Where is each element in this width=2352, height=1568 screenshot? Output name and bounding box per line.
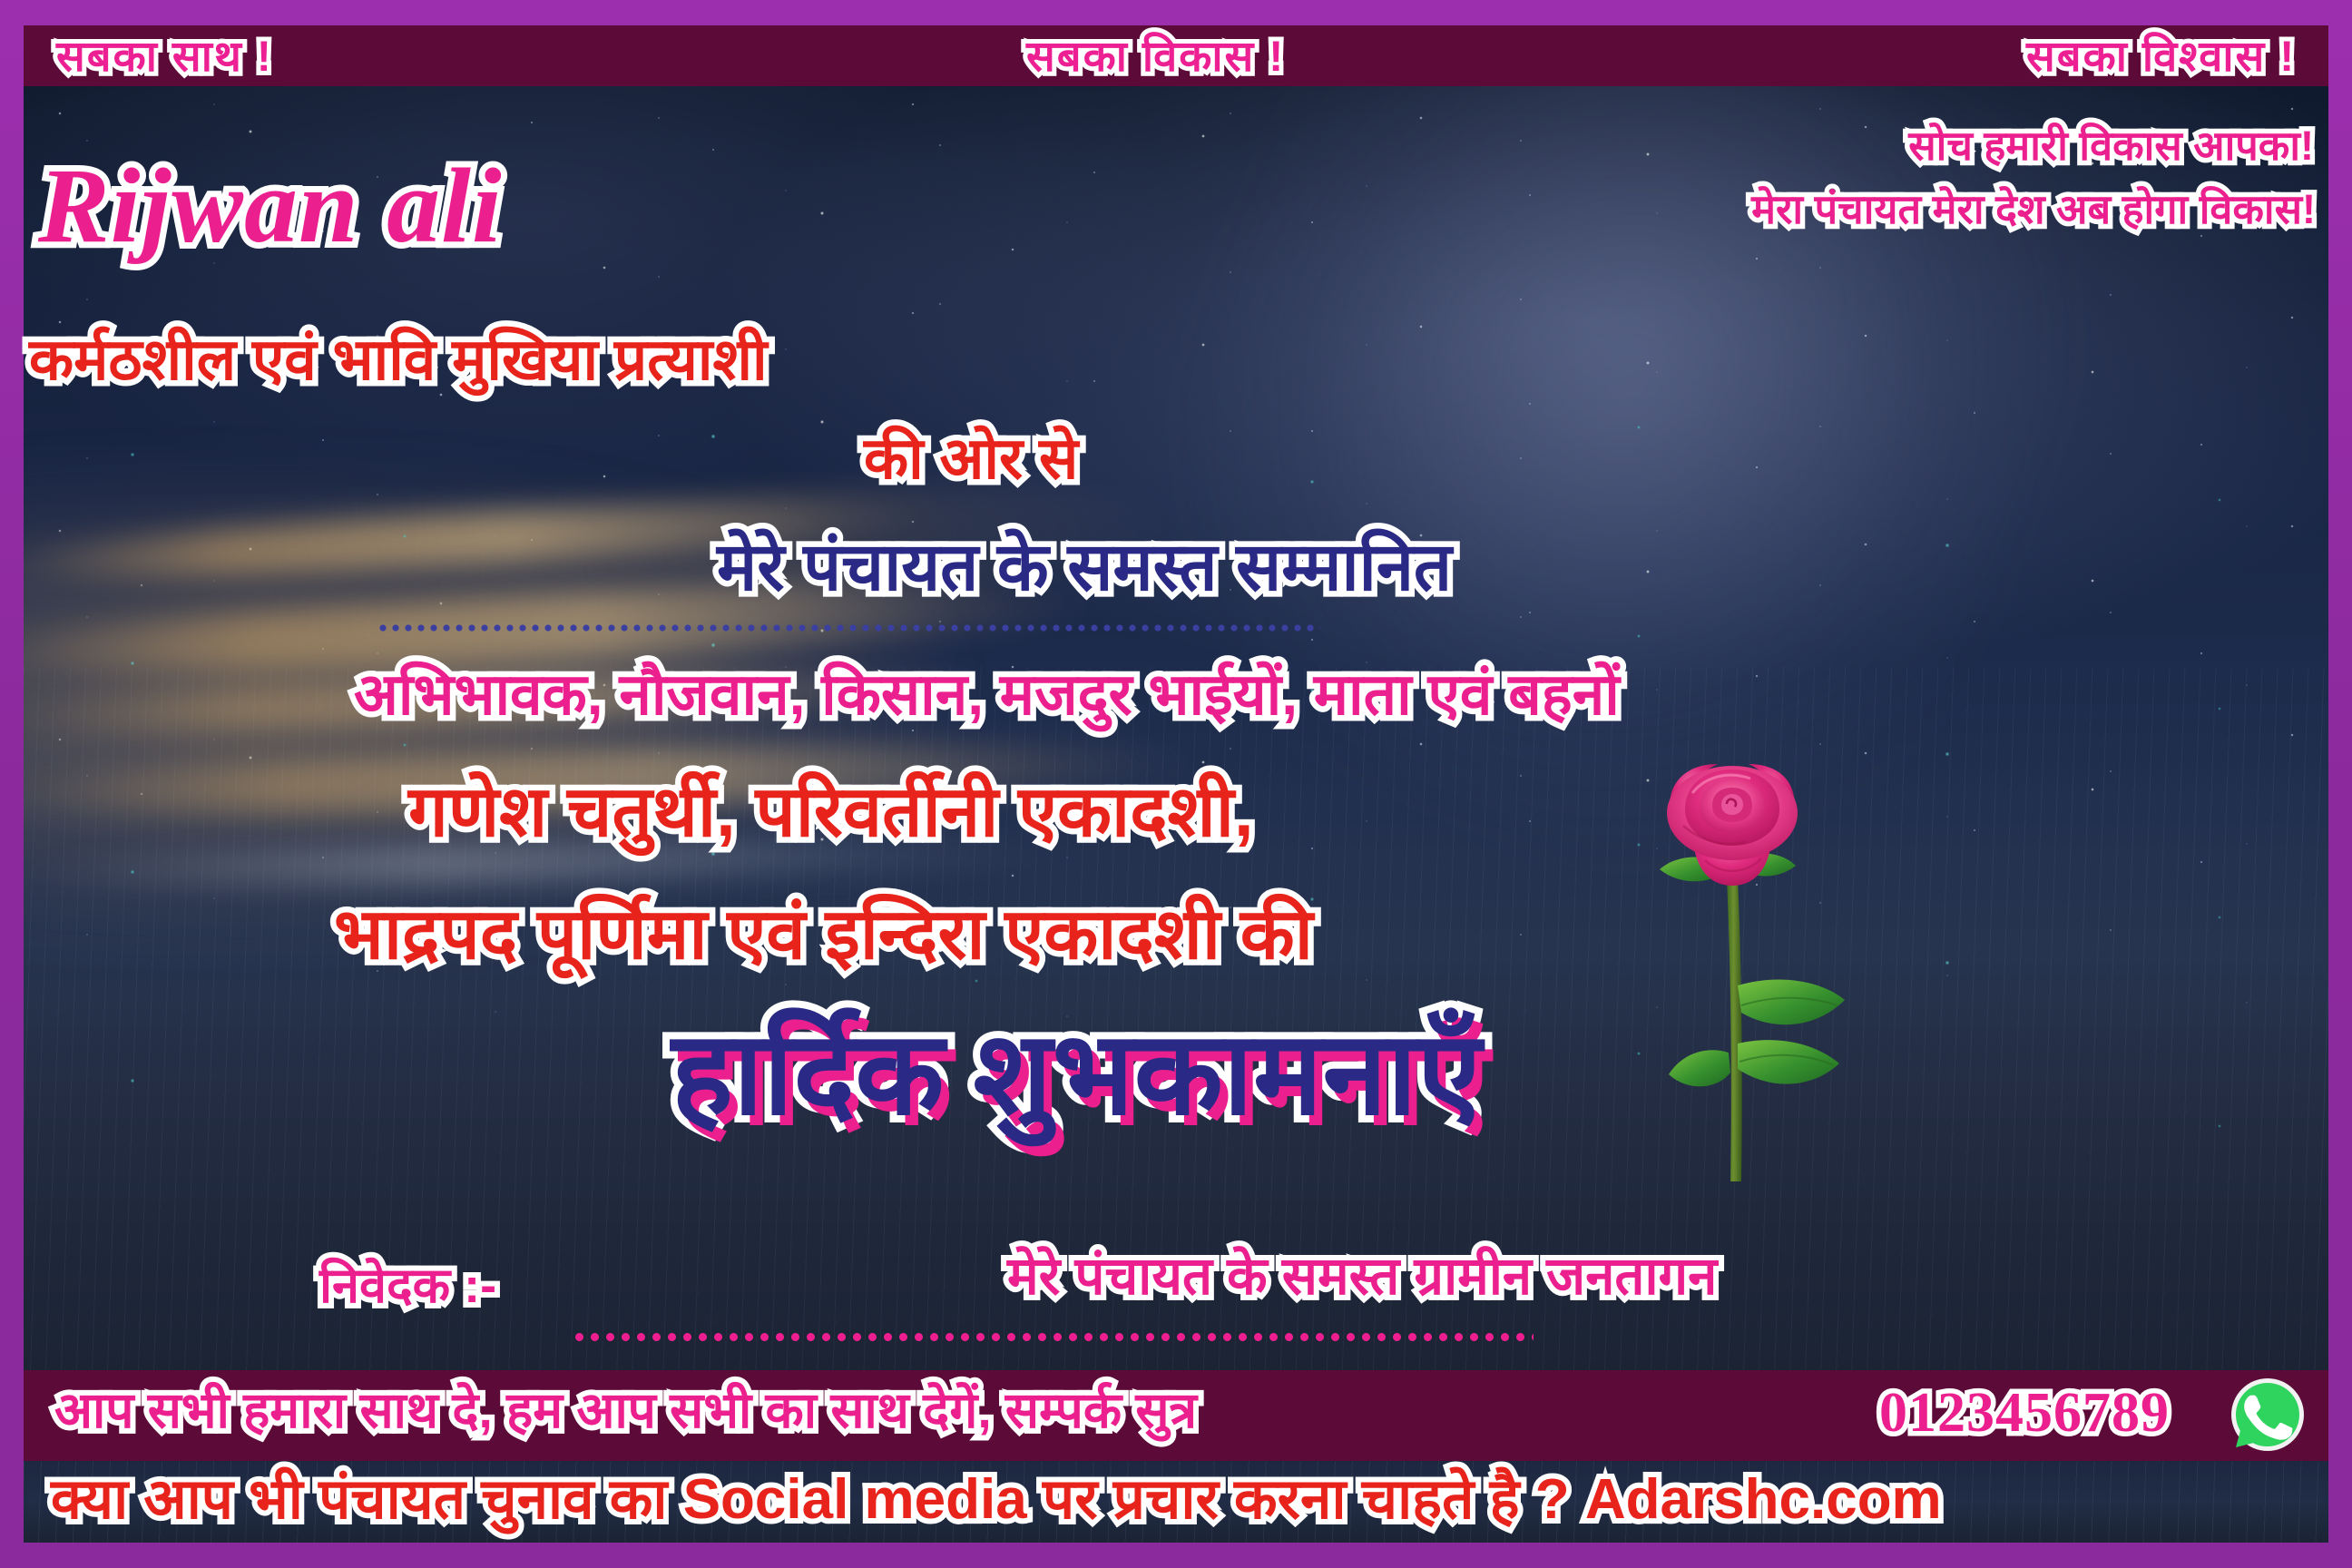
candidate-designation: कर्मठशील एवं भावि मुखिया प्रत्याशी <box>29 330 768 388</box>
election-greeting-poster: सबका साथ ! सबका विकास ! सबका विश्वास ! R… <box>0 0 2352 1568</box>
support-message: आप सभी हमारा साथ दे, हम आप सभी का साथ दे… <box>54 1383 1197 1438</box>
dotted-divider-top <box>377 624 1320 632</box>
top-slogan-band: सबका साथ ! सबका विकास ! सबका विश्वास ! <box>24 25 2328 86</box>
addressed-line: मेरे पंचायत के समस्त सम्मानित <box>717 534 1452 601</box>
sender-label: निवेदक :- <box>319 1261 496 1310</box>
candidate-name: Rijwan ali <box>38 152 503 260</box>
sender-value: मेरे पंचायत के समस्त ग्रामीन जनतागन <box>1007 1250 1717 1303</box>
audience-line: अभिभावक, नौजवान, किसान, मजदुर भाईयों, मा… <box>354 665 1620 723</box>
candidate-from-label: की ओर से <box>864 429 1078 487</box>
night-sky-background <box>24 86 2328 1396</box>
slogan-sabka-vikas: सबका विकास ! <box>1026 34 1285 77</box>
tagline-soch-hamari: सोच हमारी विकास आपका! <box>1908 125 2314 166</box>
slogan-sabka-vishwas: सबका विश्वास ! <box>2026 34 2296 77</box>
dotted-divider-sender <box>572 1332 1534 1342</box>
promo-text[interactable]: क्या आप भी पंचायत चुनाव का Social media … <box>51 1461 1942 1541</box>
bottom-contact-band: आप सभी हमारा साथ दे, हम आप सभी का साथ दे… <box>24 1370 2328 1461</box>
festival-line-2: भाद्रपद पूर्णिमा एवं इन्दिरा एकादशी की <box>334 898 1313 969</box>
festival-line-1: गणेश चतुर्थी, परिवर्तीनी एकादशी, <box>408 776 1254 847</box>
slogan-sabka-saath: सबका साथ ! <box>56 34 273 77</box>
whatsapp-icon[interactable] <box>2230 1377 2305 1452</box>
promo-strip: क्या आप भी पंचायत चुनाव का Social media … <box>24 1461 2328 1543</box>
tagline-mera-panchayat: मेरा पंचायत मेरा देश अब होगा विकास! <box>1751 189 2316 230</box>
greeting-headline: हार्दिक शुभकामनाएँ <box>671 1016 1482 1132</box>
contact-phone-number: 0123456789 <box>1879 1379 2170 1446</box>
